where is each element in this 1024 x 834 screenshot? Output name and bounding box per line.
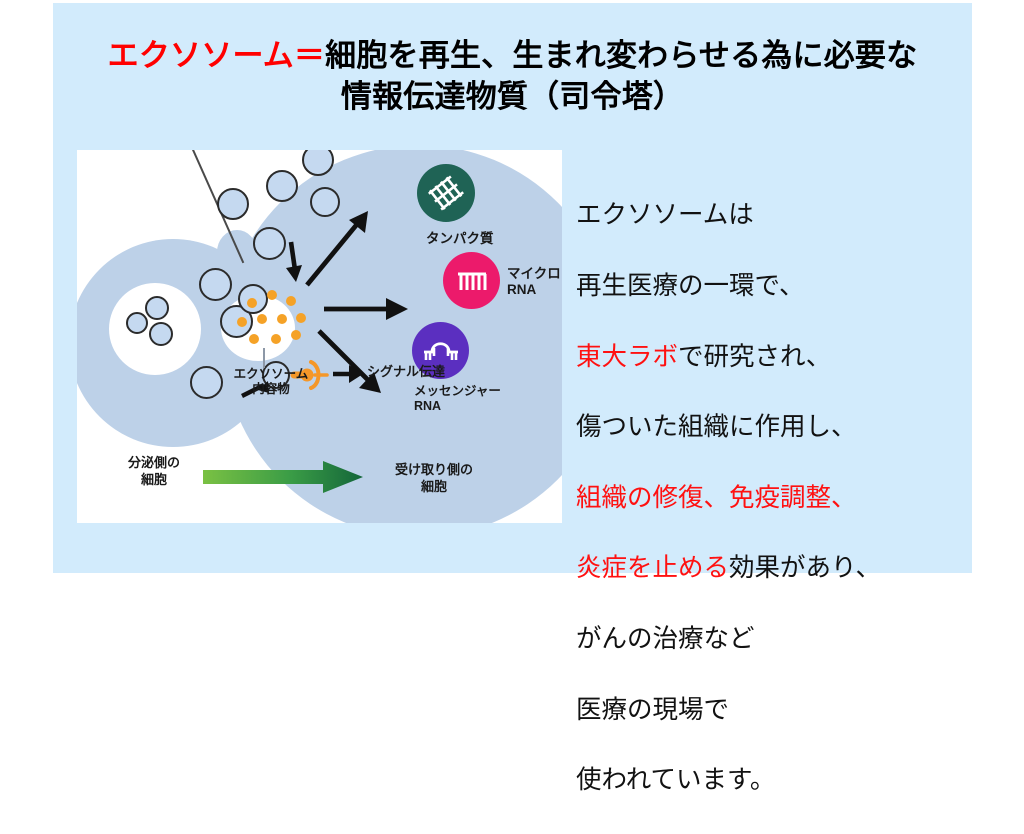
messenger-rna-arch-icon xyxy=(422,338,460,364)
intracellular-vesicle xyxy=(145,296,169,320)
description-line-1: エクソソームは xyxy=(576,198,976,233)
transfer-flow-arrow xyxy=(203,460,363,494)
page-title: エクソソーム＝細胞を再生、生まれ変わらせる為に必要な 情報伝達物質（司令塔） xyxy=(53,36,972,118)
page-title-highlight: エクソソーム＝ xyxy=(108,38,325,73)
description-line-4: 傷ついた組織に作用し、 xyxy=(576,410,976,445)
slide-root: エクソソーム＝細胞を再生、生まれ変わらせる為に必要な 情報伝達物質（司令塔） xyxy=(0,0,1024,576)
protein-arrow-icon xyxy=(302,205,378,291)
secreting-cell-label: 分泌側の 細胞 xyxy=(105,455,203,489)
description-line-9: 使われています。 xyxy=(576,763,976,798)
description-line-6: 炎症を止める効果があり、 xyxy=(576,551,976,586)
exosome-content-dot xyxy=(247,298,257,308)
signal-transduction-label: シグナル伝達 xyxy=(367,364,445,379)
protein-icon-circle xyxy=(417,164,475,222)
intracellular-vesicle xyxy=(149,322,173,346)
exosome-content-dot xyxy=(277,314,287,324)
mirna-arrow-icon xyxy=(322,295,414,323)
micro-rna-icon-circle xyxy=(443,252,500,309)
exosome-content-dot xyxy=(249,334,259,344)
exosome-vesicle xyxy=(217,188,249,220)
description-line-8: 医療の現場で xyxy=(576,693,976,728)
description-text: エクソソームは 再生医療の一環で、 東大ラボで研究され、 傷ついた組織に作用し、… xyxy=(576,163,976,834)
description-line-5: 組織の修復、免疫調整、 xyxy=(576,481,976,516)
micro-rna-comb-icon xyxy=(456,268,488,294)
diagram-panel: タンパク質 マイクロ RNA メッセンジャー RNA エクソソーム 内容物 シグ… xyxy=(77,150,562,523)
exosome-contents-label: エクソソーム 内容物 xyxy=(218,367,324,397)
page-title-rest: 細胞を再生、生まれ変わらせる為に必要な 情報伝達物質（司令塔） xyxy=(325,38,917,114)
description-line-3: 東大ラボで研究され、 xyxy=(576,340,976,375)
exosome-content-dot xyxy=(296,313,306,323)
description-line-2: 再生医療の一環で、 xyxy=(576,269,976,304)
messenger-rna-label: メッセンジャー RNA xyxy=(414,384,501,414)
exosome-content-dot xyxy=(257,314,267,324)
exosome-content-dot xyxy=(291,330,301,340)
description-line-7: がんの治療など xyxy=(576,622,976,657)
exosome-content-dot xyxy=(267,290,277,300)
signal-arrow-icon xyxy=(331,361,365,387)
exosome-vesicle xyxy=(199,268,232,301)
exosome-content-dot xyxy=(237,317,247,327)
exosome-content-dot xyxy=(271,334,281,344)
receiving-cell-label: 受け取り側の 細胞 xyxy=(373,462,495,496)
micro-rna-label: マイクロ RNA xyxy=(507,266,561,298)
exosome-content-dot xyxy=(286,296,296,306)
protein-helix-icon xyxy=(429,177,463,209)
protein-label: タンパク質 xyxy=(426,231,494,247)
exosome-vesicle xyxy=(266,170,298,202)
content-label-stem xyxy=(263,348,265,368)
intracellular-vesicle xyxy=(126,312,148,334)
